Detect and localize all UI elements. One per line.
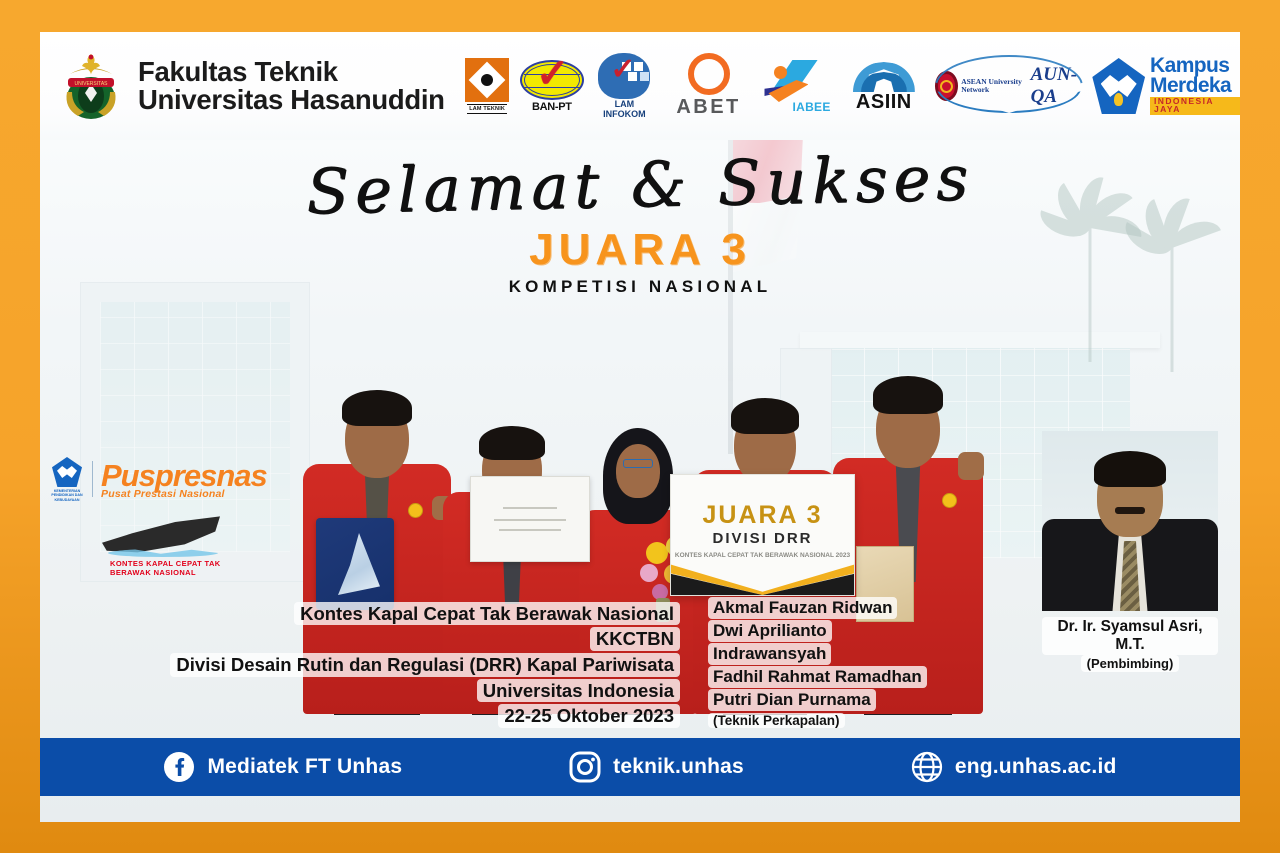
abet-label: ABET <box>676 96 740 119</box>
award-plaque <box>316 518 394 610</box>
tut-wuri-handayani-icon <box>1092 58 1145 114</box>
banner-subtitle: KONTES KAPAL CEPAT TAK BERAWAK NASIONAL … <box>671 551 854 561</box>
certificate-paper <box>470 476 590 562</box>
iabee-label: IABEE <box>792 100 830 114</box>
award-banner: JUARA 3 DIVISI DRR KONTES KAPAL CEPAT TA… <box>670 474 855 596</box>
website-label: eng.unhas.ac.id <box>955 755 1117 779</box>
kampus-merdeka-label-1: Kampus <box>1150 56 1240 75</box>
faculty-title-line1: Fakultas Teknik <box>138 58 445 86</box>
competition-info: Kontes Kapal Cepat Tak Berawak Nasional … <box>100 602 680 730</box>
hair <box>479 426 545 460</box>
facebook-icon[interactable] <box>163 751 195 783</box>
footer-item-facebook[interactable]: Mediatek FT Unhas <box>163 751 402 783</box>
abet-logo: ABET <box>664 53 754 119</box>
hair <box>873 376 943 414</box>
poster-root: UNIVERSITAS Fakultas Teknik Universitas … <box>0 0 1280 853</box>
advisor-role-wrap: (Pembimbing) <box>1042 655 1218 672</box>
footer-item-website[interactable]: eng.unhas.ac.id <box>911 751 1117 783</box>
aun-qa-logo: ASEAN University Network AUN-QA <box>935 55 1083 117</box>
kampus-merdeka-logo: Kampus Merdeka INDONESIA JAYA <box>1092 56 1240 115</box>
competition-line-2: KKCTBN <box>590 627 680 651</box>
hair <box>731 398 799 434</box>
instagram-label: teknik.unhas <box>613 755 744 779</box>
accreditation-logos: LAM TEKNIK ✓ BAN-PT ✓ LAM INFOKOM ABET <box>465 53 1240 119</box>
iabee-logo: IABEE <box>762 56 832 116</box>
blazer-badge <box>408 503 423 518</box>
globe-icon[interactable] <box>911 751 943 783</box>
member-5: Putri Dian Purnama <box>708 689 876 711</box>
competition-line-5: 22-25 Oktober 2023 <box>498 704 680 728</box>
speedboat-icon <box>102 514 220 554</box>
member-4: Fadhil Rahmat Ramadhan <box>708 666 927 688</box>
unhas-crest-icon: UNIVERSITAS <box>60 52 122 120</box>
poster-card: UNIVERSITAS Fakultas Teknik Universitas … <box>40 32 1240 822</box>
asiin-logo: ASIIN <box>842 58 926 114</box>
asiin-label: ASIIN <box>856 91 912 114</box>
face <box>616 444 660 498</box>
member-1: Akmal Fauzan Ridwan <box>708 597 897 619</box>
lam-teknik-label: LAM TEKNIK <box>467 104 507 114</box>
advisor-role: (Pembimbing) <box>1081 655 1180 672</box>
hair <box>342 390 412 426</box>
faculty-title-line2: Universitas Hasanuddin <box>138 86 445 114</box>
kemdikbud-logo: KEMENTERIAN PENDIDIKAN DAN KEBUDAYAAN <box>50 457 84 502</box>
raised-fist <box>958 452 984 480</box>
advisor-name-wrap: Dr. Ir. Syamsul Asri, M.T. <box>1042 617 1218 655</box>
advisor-moustache <box>1115 507 1145 514</box>
team-department: (Teknik Perkapalan) <box>708 713 845 728</box>
kkctbn-caption: KONTES KAPAL CEPAT TAK BERAWAK NASIONAL <box>110 559 242 578</box>
banner-rank: JUARA 3 <box>671 501 854 530</box>
lam-infokom-label-1: LAM <box>615 100 635 109</box>
social-footer: Mediatek FT Unhas teknik.unhas eng.unhas… <box>40 738 1240 796</box>
lam-teknik-logo: LAM TEKNIK <box>465 58 510 114</box>
eyeglasses-icon <box>623 459 653 468</box>
sponsor-logos: KEMENTERIAN PENDIDIKAN DAN KEBUDAYAAN Pu… <box>50 457 280 578</box>
competition-line-4: Universitas Indonesia <box>477 679 680 703</box>
blazer-badge <box>942 493 957 508</box>
kampus-merdeka-label-3: INDONESIA JAYA <box>1150 97 1240 115</box>
facebook-label: Mediatek FT Unhas <box>207 755 402 779</box>
faculty-title: Fakultas Teknik Universitas Hasanuddin <box>138 58 445 114</box>
instagram-icon[interactable] <box>569 751 601 783</box>
banner-top-logos <box>671 475 854 499</box>
puspresnas-logo: KEMENTERIAN PENDIDIKAN DAN KEBUDAYAAN Pu… <box>50 457 280 502</box>
advisor-portrait <box>1042 431 1218 611</box>
banner-division: DIVISI DRR <box>671 530 854 547</box>
footer-item-instagram[interactable]: teknik.unhas <box>569 751 744 783</box>
kampus-merdeka-label-2: Merdeka <box>1150 76 1240 95</box>
ban-pt-logo: ✓ BAN-PT <box>519 60 585 113</box>
advisor-name: Dr. Ir. Syamsul Asri, M.T. <box>1042 617 1218 655</box>
kkctbn-logo: KONTES KAPAL CEPAT TAK BERAWAK NASIONAL <box>102 514 242 578</box>
lam-infokom-label-2: INFOKOM <box>603 110 646 119</box>
competition-line-3: Divisi Desain Rutin dan Regulasi (DRR) K… <box>170 653 680 677</box>
header-bar: UNIVERSITAS Fakultas Teknik Universitas … <box>40 32 1240 140</box>
competition-line-1: Kontes Kapal Cepat Tak Berawak Nasional <box>294 602 680 626</box>
team-members: Akmal Fauzan Ridwan Dwi Aprilianto Indra… <box>708 597 1008 730</box>
lam-infokom-logo: ✓ LAM INFOKOM <box>594 53 655 119</box>
kemdikbud-caption: KEMENTERIAN PENDIDIKAN DAN KEBUDAYAAN <box>50 489 84 502</box>
ban-pt-label: BAN-PT <box>532 101 572 113</box>
advisor-block: Dr. Ir. Syamsul Asri, M.T. (Pembimbing) <box>1042 431 1218 672</box>
wave-icon <box>108 549 218 557</box>
puspresnas-name: Puspresnas <box>101 460 267 491</box>
member-3: Indrawansyah <box>708 643 831 665</box>
sponsor-divider <box>92 461 93 497</box>
advisor-hair <box>1094 451 1166 487</box>
svg-text:UNIVERSITAS: UNIVERSITAS <box>75 81 109 87</box>
member-2: Dwi Aprilianto <box>708 620 832 642</box>
